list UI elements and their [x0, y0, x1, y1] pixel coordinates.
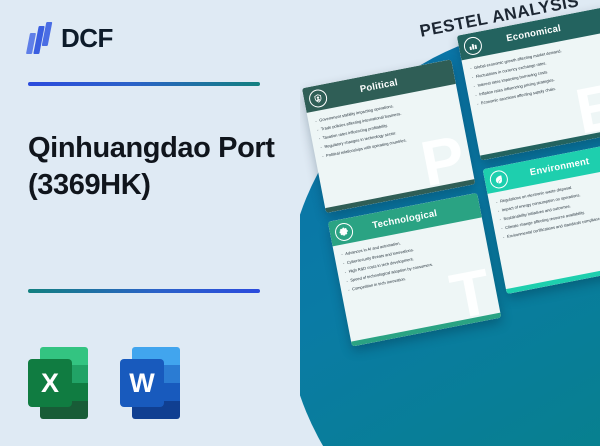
divider-top — [28, 82, 260, 86]
gear-icon — [333, 221, 354, 242]
excel-icon-letter: X — [28, 359, 72, 407]
word-icon[interactable]: W — [120, 347, 180, 419]
pestel-card-political[interactable]: Political P Government stability impacti… — [302, 59, 475, 213]
excel-icon[interactable]: X — [28, 347, 88, 419]
leaf-icon — [488, 168, 509, 189]
card-title-economical: Economical — [505, 23, 561, 44]
pestel-card-deck: Political P Government stability impacti… — [300, 23, 600, 351]
brand-logo: DCF — [28, 22, 113, 54]
bar-chart-logo-icon — [28, 22, 54, 54]
pestel-analysis-graphic: PESTEL ANALYSIS Political P Government s… — [300, 0, 600, 446]
bar-chart-icon — [462, 35, 483, 56]
page-title: Qinhuangdao Port (3369HK) — [28, 130, 303, 204]
pestel-card-technological[interactable]: Technological T Advances in AI and autom… — [328, 193, 501, 347]
office-icons: X W — [28, 347, 180, 419]
pestel-card-environment[interactable]: Environment E Regulations on electronic … — [483, 140, 600, 294]
brand-name: DCF — [61, 23, 113, 54]
card-title-political: Political — [359, 77, 399, 95]
divider-bottom — [28, 289, 260, 293]
word-icon-letter: W — [120, 359, 164, 407]
left-panel: DCF Qinhuangdao Port (3369HK) X W — [0, 0, 320, 446]
